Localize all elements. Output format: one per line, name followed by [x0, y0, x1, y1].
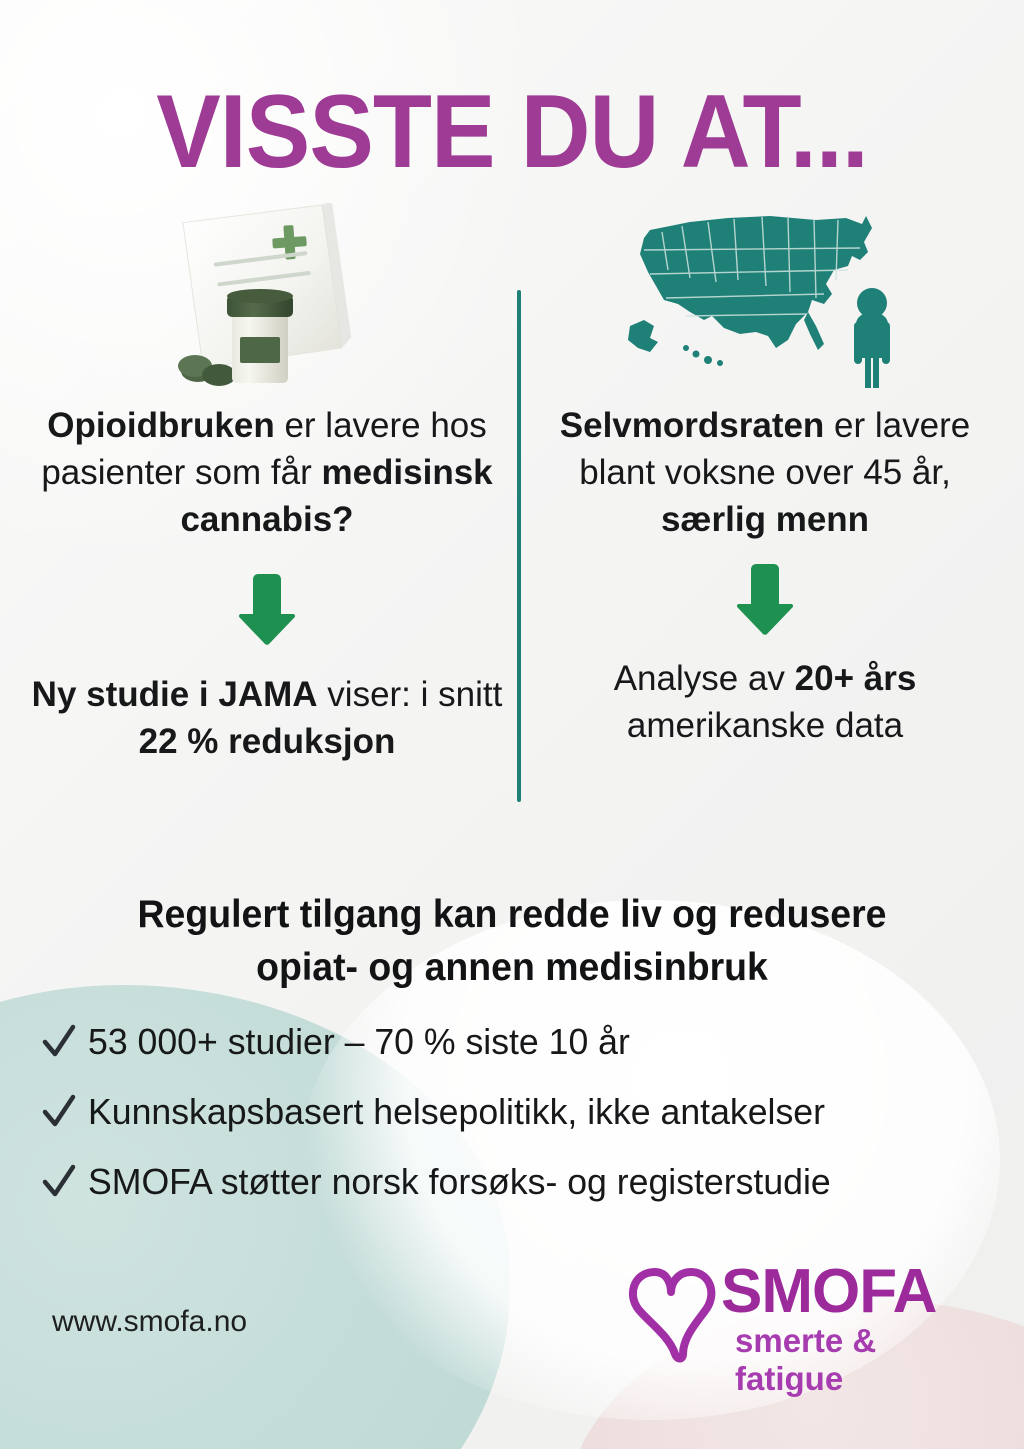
right-result-lead: Analyse av: [614, 659, 795, 698]
left-arrow-wrap: [22, 570, 512, 648]
checklist-item-label: SMOFA støtter norsk forsøks- og register…: [88, 1161, 831, 1203]
person-icon: [854, 288, 890, 388]
left-result-middle: viser: i snitt: [318, 675, 503, 714]
check-icon: [40, 1022, 78, 1062]
check-icon: [40, 1162, 78, 1202]
right-statement: Selvmordsraten er lavere blant voksne ov…: [530, 403, 1000, 544]
heart-icon: [625, 1262, 717, 1371]
check-icon: [40, 1092, 78, 1132]
left-statement-lead: Opioidbruken: [47, 406, 275, 445]
page-title: VISSTE DU AT...: [36, 78, 988, 187]
prescription-pills-icon: [22, 200, 512, 395]
left-result: Ny studie i JAMA viser: i snitt 22 % red…: [22, 672, 512, 766]
list-item: SMOFA støtter norsk forsøks- og register…: [40, 1158, 1024, 1206]
down-arrow-icon: [734, 560, 796, 638]
infographic-poster: VISSTE DU AT...: [0, 0, 1024, 1449]
logo-wordmark: SMOFA: [721, 1256, 936, 1327]
right-result-tail: amerikanske data: [627, 706, 903, 745]
left-statement: Opioidbruken er lavere hos pasienter som…: [22, 403, 512, 544]
left-column: Opioidbruken er lavere hos pasienter som…: [22, 200, 512, 765]
right-statement-tail: særlig menn: [661, 500, 869, 539]
logo-tagline: smerte & fatigue: [735, 1322, 975, 1398]
smofa-logo[interactable]: SMOFA smerte & fatigue: [625, 1258, 975, 1368]
banner-line-1: Regulert tilgang kan redde liv og reduse…: [65, 888, 960, 941]
right-result: Analyse av 20+ års amerikanske data: [530, 656, 1000, 750]
right-statement-lead: Selvmordsraten: [560, 406, 825, 445]
banner-headline: Regulert tilgang kan redde liv og reduse…: [65, 888, 960, 994]
right-arrow-wrap: [530, 560, 1000, 638]
down-arrow-icon: [236, 570, 298, 648]
left-result-tail: 22 % reduksjon: [139, 722, 396, 761]
list-item: 53 000+ studier – 70 % siste 10 år: [40, 1018, 1024, 1066]
column-divider: [517, 290, 521, 802]
checklist: 53 000+ studier – 70 % siste 10 år Kunns…: [40, 1018, 1024, 1228]
right-column: Selvmordsraten er lavere blant voksne ov…: [530, 200, 1000, 749]
website-url[interactable]: www.smofa.no: [52, 1305, 247, 1339]
right-result-bold: 20+ års: [795, 659, 917, 698]
usa-map-person-icon: [530, 200, 1000, 395]
list-item: Kunnskapsbasert helsepolitikk, ikke anta…: [40, 1088, 1024, 1136]
banner-line-2: opiat- og annen medisinbruk: [65, 941, 960, 994]
checklist-item-label: Kunnskapsbasert helsepolitikk, ikke anta…: [88, 1091, 825, 1133]
left-result-lead: Ny studie i JAMA: [32, 675, 318, 714]
checklist-item-label: 53 000+ studier – 70 % siste 10 år: [88, 1021, 630, 1063]
